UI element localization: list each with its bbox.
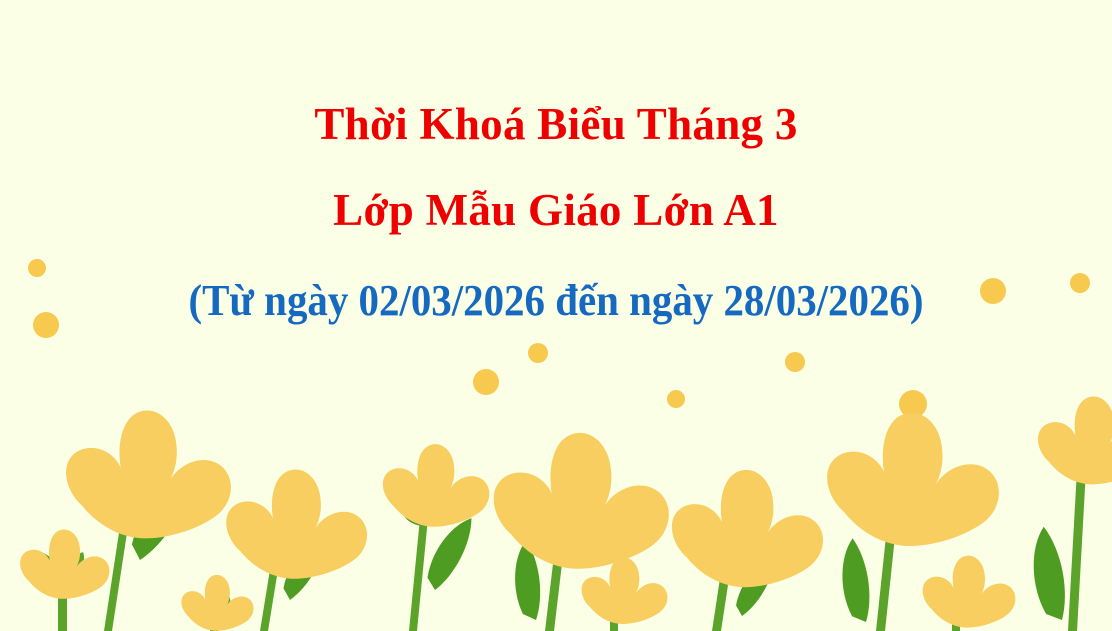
- page-title-date-range: (Từ ngày 02/03/2026 đến ngày 28/03/2026): [39, 275, 1073, 326]
- page-title-line-1: Thời Khoá Biểu Tháng 3: [0, 98, 1112, 150]
- flower-8: [672, 470, 823, 631]
- flower-3: [181, 575, 253, 631]
- flower-6: [494, 433, 669, 631]
- flower-5: [383, 444, 489, 631]
- page-title-line-2: Lớp Mẫu Giáo Lớn A1: [0, 184, 1112, 236]
- flower-10: [923, 556, 1016, 631]
- slide-canvas: Thời Khoá Biểu Tháng 3 Lớp Mẫu Giáo Lớn …: [0, 0, 1112, 631]
- flower-4: [226, 470, 367, 631]
- flower-11: [1017, 396, 1112, 631]
- flower-2: [66, 410, 231, 631]
- flower-1: [20, 530, 109, 631]
- flower-7: [582, 557, 668, 631]
- flower-9: [827, 413, 999, 631]
